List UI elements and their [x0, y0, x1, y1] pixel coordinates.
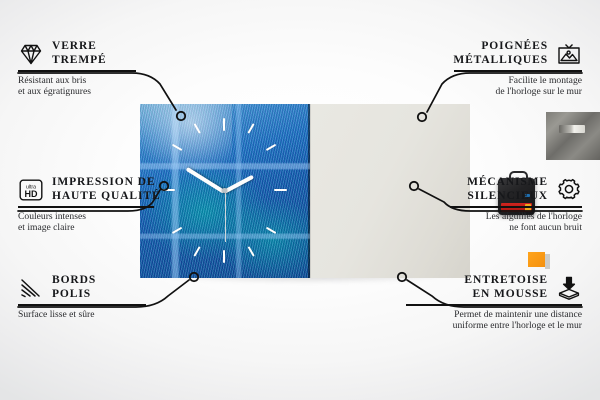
callout-title-line2: TREMPÉ [52, 54, 107, 68]
callout-desc-line1: Surface lisse et sûre [18, 309, 148, 321]
callout-title-line2: EN MOUSSE [464, 288, 548, 302]
callout-rule [406, 304, 582, 306]
callout-title-line1: ENTRETOISE [464, 274, 548, 288]
callout-title-line1: MÉCANISME [467, 176, 548, 190]
callout-desc-line1: Résistant aux bris [18, 75, 138, 87]
callout-title-line2: POLIS [52, 288, 96, 302]
callout-title-line2: HAUTE QUALITÉ [52, 190, 161, 204]
gear-icon [556, 177, 582, 203]
callout-verre-trempe: VERRE TREMPÉ Résistant aux bris et aux é… [18, 40, 138, 98]
callout-rule [18, 304, 146, 306]
foam-spacer [528, 252, 545, 267]
callout-desc-line1: Les aiguilles de l'horloge [448, 211, 582, 223]
diamond-icon [18, 41, 44, 67]
callout-desc-line1: Couleurs intenses [18, 211, 156, 223]
framed-picture-icon [556, 41, 582, 67]
callout-impression-haute-qualite: ultra HD IMPRESSION DE HAUTE QUALITÉ Cou… [18, 176, 156, 234]
callout-desc-line1: Facilite le montage [452, 75, 582, 87]
callout-mecanisme-silencieux: MÉCANISME SILENCIEUX Les aiguilles de l'… [448, 176, 582, 234]
callout-title-line1: VERRE [52, 40, 107, 54]
callout-title-line1: IMPRESSION DE [52, 176, 161, 190]
callout-poignees-metalliques: POIGNÉES MÉTALLIQUES Facilite le montage… [452, 40, 582, 98]
callout-rule [454, 70, 582, 72]
callout-desc-line2: et image claire [18, 222, 156, 234]
callout-rule [18, 70, 136, 72]
ultra-hd-badge-icon: ultra HD [18, 177, 44, 203]
callout-title-line1: BORDS [52, 274, 96, 288]
callout-desc-line2: uniforme entre l'horloge et le mur [404, 320, 582, 332]
callout-bords-polis: BORDS POLIS Surface lisse et sûre [18, 274, 148, 320]
clock-face-front-panel [140, 104, 310, 278]
metal-hanging-bracket [546, 112, 600, 160]
badge-text-bottom: HD [25, 188, 38, 198]
callout-title-line2: MÉTALLIQUES [453, 54, 548, 68]
callout-title-line1: POIGNÉES [453, 40, 548, 54]
diagonal-lines-icon [18, 275, 44, 301]
callout-rule [450, 206, 582, 208]
callout-desc-line2: ne font aucun bruit [448, 222, 582, 234]
callout-desc-line2: et aux égratignures [18, 86, 138, 98]
callout-desc-line2: de l'horloge sur le mur [452, 86, 582, 98]
callout-entretoise-en-mousse: ENTRETOISE EN MOUSSE Permet de maintenir… [404, 274, 582, 332]
product-photo [140, 104, 470, 278]
clock-back-panel [310, 104, 470, 278]
arrow-onto-pad-icon [556, 275, 582, 301]
infographic-canvas: VERRE TREMPÉ Résistant aux bris et aux é… [0, 0, 600, 400]
callout-desc-line1: Permet de maintenir une distance [404, 309, 582, 321]
callout-rule [18, 206, 154, 208]
callout-title-line2: SILENCIEUX [467, 190, 548, 204]
